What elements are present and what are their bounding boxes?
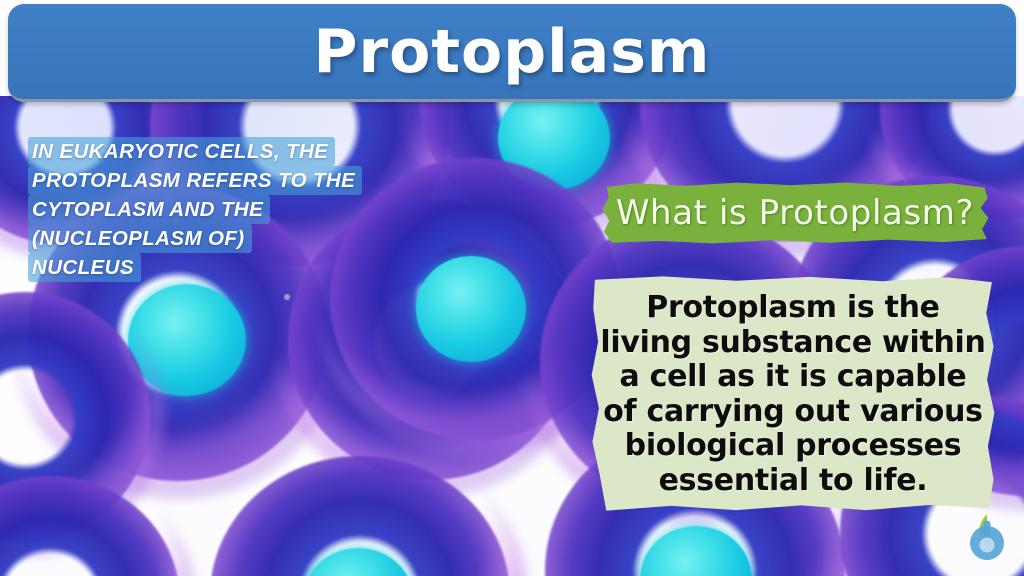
caption-line: IN EUKARYOTIC CELLS, THE [28, 137, 458, 166]
caption-line: (NUCLEOPLASM OF) [28, 224, 458, 253]
biology-online-logo-icon [960, 510, 1014, 568]
caption-line-text: IN EUKARYOTIC CELLS, THE [28, 137, 335, 166]
question-text: What is Protoplasm? [600, 182, 990, 244]
slide-canvas: Protoplasm IN EUKARYOTIC CELLS, THE PROT… [0, 0, 1024, 576]
caption-line-text: PROTOPLASM REFERS TO THE [28, 166, 362, 195]
caption-line-text: (NUCLEOPLASM OF) [28, 224, 252, 253]
cell-speck [284, 294, 290, 300]
caption-line-text: CYTOPLASM AND THE [28, 195, 270, 224]
caption-line: CYTOPLASM AND THE [28, 195, 458, 224]
caption-line: PROTOPLASM REFERS TO THE [28, 166, 458, 195]
caption-line-text: NUCLEUS [28, 253, 141, 282]
title-banner: Protoplasm [8, 4, 1016, 102]
caption-line: NUCLEUS [28, 253, 458, 282]
question-banner: What is Protoplasm? [600, 182, 990, 244]
page-title: Protoplasm [314, 17, 711, 87]
answer-card: Protoplasm is the living substance withi… [590, 275, 996, 513]
answer-text: Protoplasm is the living substance withi… [600, 291, 986, 498]
definition-caption: IN EUKARYOTIC CELLS, THE PROTOPLASM REFE… [28, 137, 458, 282]
